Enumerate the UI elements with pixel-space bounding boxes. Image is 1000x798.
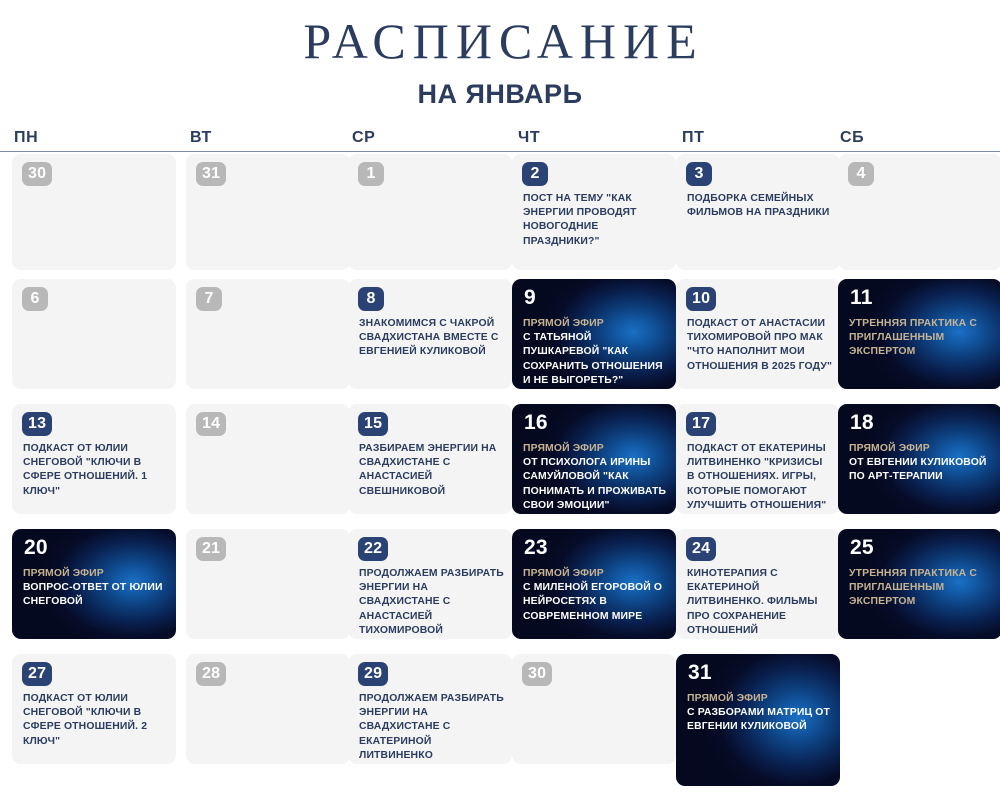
event-label-highlight: УТРЕННЯЯ ПРАКТИКА С ПРИГЛАШЕННЫМ ЭКСПЕРТ…	[849, 318, 977, 357]
day-event-text: ПОДКАСТ ОТ ЕКАТЕРИНЫ ЛИТВИНЕНКО "КРИЗИСЫ…	[687, 442, 833, 513]
day-cell-31[interactable]: 31	[186, 154, 350, 270]
event-description: С МИЛЕНОЙ ЕГОРОВОЙ О НЕЙРОСЕТЯХ В СОВРЕМ…	[523, 582, 662, 621]
date-badge-23: 23	[524, 535, 550, 559]
calendar-week-row: 303112ПОСТ НА ТЕМУ "КАК ЭНЕРГИИ ПРОВОДЯТ…	[0, 154, 1000, 270]
day-event-text: УТРЕННЯЯ ПРАКТИКА С ПРИГЛАШЕННЫМ ЭКСПЕРТ…	[849, 317, 995, 360]
date-badge-4: 4	[848, 162, 874, 186]
day-event-text: УТРЕННЯЯ ПРАКТИКА С ПРИГЛАШЕННЫМ ЭКСПЕРТ…	[849, 567, 995, 610]
event-description: ОТ ПСИХОЛОГА ИРИНЫ САМУЙЛОВОЙ "КАК ПОНИМ…	[523, 457, 666, 511]
event-description: ПОДКАСТ ОТ ЕКАТЕРИНЫ ЛИТВИНЕНКО "КРИЗИСЫ…	[687, 443, 826, 511]
calendar-week-row: 20ПРЯМОЙ ЭФИРВОПРОС-ОТВЕТ ОТ ЮЛИИ СНЕГОВ…	[0, 529, 1000, 639]
day-cell-7[interactable]: 7	[186, 279, 350, 389]
date-badge-21: 21	[196, 537, 226, 561]
day-cell-11[interactable]: 11УТРЕННЯЯ ПРАКТИКА С ПРИГЛАШЕННЫМ ЭКСПЕ…	[838, 279, 1000, 389]
day-cell-1[interactable]: 1	[348, 154, 512, 270]
date-badge-31: 31	[196, 162, 226, 186]
event-label-highlight: ПРЯМОЙ ЭФИР	[523, 443, 604, 454]
day-event-text: ПОДКАСТ ОТ ЮЛИИ СНЕГОВОЙ "КЛЮЧИ В СФЕРЕ …	[23, 442, 169, 499]
day-event-text: ПРЯМОЙ ЭФИРС ТАТЬЯНОЙ ПУШКАРЕВОЙ "КАК СО…	[523, 317, 669, 388]
date-badge-9: 9	[524, 285, 550, 309]
date-badge-15: 15	[358, 412, 388, 436]
day-cell-4[interactable]: 4	[838, 154, 1000, 270]
calendar-week-row: 13ПОДКАСТ ОТ ЮЛИИ СНЕГОВОЙ "КЛЮЧИ В СФЕР…	[0, 404, 1000, 514]
date-badge-18: 18	[850, 410, 876, 434]
day-cell-3[interactable]: 3ПОДБОРКА СЕМЕЙНЫХ ФИЛЬМОВ НА ПРАЗДНИКИ	[676, 154, 840, 270]
date-badge-29: 29	[358, 662, 388, 686]
event-description: ПОДКАСТ ОТ ЮЛИИ СНЕГОВОЙ "КЛЮЧИ В СФЕРЕ …	[23, 693, 147, 747]
event-label-highlight: ПРЯМОЙ ЭФИР	[23, 568, 104, 579]
day-cell-24[interactable]: 24КИНОТЕРАПИЯ С ЕКАТЕРИНОЙ ЛИТВИНЕНКО. Ф…	[676, 529, 840, 639]
day-cell-14[interactable]: 14	[186, 404, 350, 514]
event-description: ПОСТ НА ТЕМУ "КАК ЭНЕРГИИ ПРОВОДЯТ НОВОГ…	[523, 193, 637, 247]
day-cell-27[interactable]: 27ПОДКАСТ ОТ ЮЛИИ СНЕГОВОЙ "КЛЮЧИ В СФЕР…	[12, 654, 176, 764]
day-event-text: ПРЯМОЙ ЭФИРОТ ЕВГЕНИИ КУЛИКОВОЙ ПО АРТ-Т…	[849, 442, 995, 485]
day-event-text: ПОДКАСТ ОТ ЮЛИИ СНЕГОВОЙ "КЛЮЧИ В СФЕРЕ …	[23, 692, 169, 749]
event-label-highlight: ПРЯМОЙ ЭФИР	[523, 318, 604, 329]
day-event-text: ПРЯМОЙ ЭФИРВОПРОС-ОТВЕТ ОТ ЮЛИИ СНЕГОВОЙ	[23, 567, 169, 610]
date-badge-7: 7	[196, 287, 222, 311]
weekday-label-ср: СР	[352, 128, 375, 148]
weekday-label-пн: ПН	[14, 128, 38, 148]
calendar-week-row: 27ПОДКАСТ ОТ ЮЛИИ СНЕГОВОЙ "КЛЮЧИ В СФЕР…	[0, 654, 1000, 764]
date-badge-3: 3	[686, 162, 712, 186]
date-badge-22: 22	[358, 537, 388, 561]
day-event-text: ПОДБОРКА СЕМЕЙНЫХ ФИЛЬМОВ НА ПРАЗДНИКИ	[687, 192, 833, 220]
day-cell-28[interactable]: 28	[186, 654, 350, 764]
date-badge-31: 31	[688, 660, 714, 684]
date-badge-13: 13	[22, 412, 52, 436]
day-cell-6[interactable]: 6	[12, 279, 176, 389]
day-cell-17[interactable]: 17ПОДКАСТ ОТ ЕКАТЕРИНЫ ЛИТВИНЕНКО "КРИЗИ…	[676, 404, 840, 514]
date-badge-16: 16	[524, 410, 550, 434]
event-description: ПОДКАСТ ОТ АНАСТАСИИ ТИХОМИРОВОЙ ПРО МАК…	[687, 318, 832, 372]
date-badge-8: 8	[358, 287, 384, 311]
day-cell-23[interactable]: 23ПРЯМОЙ ЭФИРС МИЛЕНОЙ ЕГОРОВОЙ О НЕЙРОС…	[512, 529, 676, 639]
page-title: РАСПИСАНИЕ	[0, 14, 1000, 68]
day-event-text: ПРЯМОЙ ЭФИРС МИЛЕНОЙ ЕГОРОВОЙ О НЕЙРОСЕТ…	[523, 567, 669, 624]
date-badge-1: 1	[358, 162, 384, 186]
date-badge-24: 24	[686, 537, 716, 561]
page-header: РАСПИСАНИЕ НА ЯНВАРЬ	[0, 0, 1000, 109]
event-description: ПРОДОЛЖАЕМ РАЗБИРАТЬ ЭНЕРГИИ НА СВАДХИСТ…	[359, 568, 504, 636]
day-event-text: ПРЯМОЙ ЭФИРС РАЗБОРАМИ МАТРИЦ ОТ ЕВГЕНИИ…	[687, 692, 833, 735]
date-badge-17: 17	[686, 412, 716, 436]
event-description: ПОДБОРКА СЕМЕЙНЫХ ФИЛЬМОВ НА ПРАЗДНИКИ	[687, 193, 830, 218]
event-label-highlight: ПРЯМОЙ ЭФИР	[687, 693, 768, 704]
day-event-text: ПОСТ НА ТЕМУ "КАК ЭНЕРГИИ ПРОВОДЯТ НОВОГ…	[523, 192, 669, 249]
day-cell-8[interactable]: 8ЗНАКОМИМСЯ С ЧАКРОЙ СВАДХИСТАНА ВМЕСТЕ …	[348, 279, 512, 389]
day-cell-10[interactable]: 10ПОДКАСТ ОТ АНАСТАСИИ ТИХОМИРОВОЙ ПРО М…	[676, 279, 840, 389]
event-label-highlight: ПРЯМОЙ ЭФИР	[523, 568, 604, 579]
page-subtitle: НА ЯНВАРЬ	[0, 79, 1000, 109]
day-cell-21[interactable]: 21	[186, 529, 350, 639]
day-cell-31[interactable]: 31ПРЯМОЙ ЭФИРС РАЗБОРАМИ МАТРИЦ ОТ ЕВГЕН…	[676, 654, 840, 786]
weekday-label-сб: СБ	[840, 128, 864, 148]
day-cell-16[interactable]: 16ПРЯМОЙ ЭФИРОТ ПСИХОЛОГА ИРИНЫ САМУЙЛОВ…	[512, 404, 676, 514]
weekday-header-row: ПНВТСРЧТПТСБ	[0, 128, 1000, 152]
date-badge-27: 27	[22, 662, 52, 686]
weekday-label-чт: ЧТ	[518, 128, 540, 148]
event-label-highlight: ПРЯМОЙ ЭФИР	[849, 443, 930, 454]
date-badge-14: 14	[196, 412, 226, 436]
day-cell-25[interactable]: 25УТРЕННЯЯ ПРАКТИКА С ПРИГЛАШЕННЫМ ЭКСПЕ…	[838, 529, 1000, 639]
event-description: ВОПРОС-ОТВЕТ ОТ ЮЛИИ СНЕГОВОЙ	[23, 582, 163, 607]
day-cell-22[interactable]: 22ПРОДОЛЖАЕМ РАЗБИРАТЬ ЭНЕРГИИ НА СВАДХИ…	[348, 529, 512, 639]
event-description: С РАЗБОРАМИ МАТРИЦ ОТ ЕВГЕНИИ КУЛИКОВОЙ	[687, 707, 830, 732]
day-cell-30[interactable]: 30	[512, 654, 676, 764]
day-cell-20[interactable]: 20ПРЯМОЙ ЭФИРВОПРОС-ОТВЕТ ОТ ЮЛИИ СНЕГОВ…	[12, 529, 176, 639]
day-cell-15[interactable]: 15РАЗБИРАЕМ ЭНЕРГИИ НА СВАДХИСТАНЕ С АНА…	[348, 404, 512, 514]
day-event-text: ПОДКАСТ ОТ АНАСТАСИИ ТИХОМИРОВОЙ ПРО МАК…	[687, 317, 833, 374]
date-badge-20: 20	[24, 535, 50, 559]
event-label-highlight: УТРЕННЯЯ ПРАКТИКА С ПРИГЛАШЕННЫМ ЭКСПЕРТ…	[849, 568, 977, 607]
date-badge-30: 30	[522, 662, 552, 686]
weekday-label-пт: ПТ	[682, 128, 704, 148]
day-cell-2[interactable]: 2ПОСТ НА ТЕМУ "КАК ЭНЕРГИИ ПРОВОДЯТ НОВО…	[512, 154, 676, 270]
date-badge-30: 30	[22, 162, 52, 186]
date-badge-11: 11	[850, 285, 876, 309]
day-cell-29[interactable]: 29ПРОДОЛЖАЕМ РАЗБИРАТЬ ЭНЕРГИИ НА СВАДХИ…	[348, 654, 512, 764]
event-description: С ТАТЬЯНОЙ ПУШКАРЕВОЙ "КАК СОХРАНИТЬ ОТН…	[523, 332, 663, 386]
day-event-text: ПРОДОЛЖАЕМ РАЗБИРАТЬ ЭНЕРГИИ НА СВАДХИСТ…	[359, 567, 505, 638]
header-divider	[0, 151, 1000, 152]
day-event-text: ПРЯМОЙ ЭФИРОТ ПСИХОЛОГА ИРИНЫ САМУЙЛОВОЙ…	[523, 442, 669, 513]
event-description: ОТ ЕВГЕНИИ КУЛИКОВОЙ ПО АРТ-ТЕРАПИИ	[849, 457, 987, 482]
date-badge-6: 6	[22, 287, 48, 311]
day-event-text: КИНОТЕРАПИЯ С ЕКАТЕРИНОЙ ЛИТВИНЕНКО. ФИЛ…	[687, 567, 833, 638]
date-badge-2: 2	[522, 162, 548, 186]
event-description: КИНОТЕРАПИЯ С ЕКАТЕРИНОЙ ЛИТВИНЕНКО. ФИЛ…	[687, 568, 818, 636]
date-badge-25: 25	[850, 535, 876, 559]
day-event-text: ЗНАКОМИМСЯ С ЧАКРОЙ СВАДХИСТАНА ВМЕСТЕ С…	[359, 317, 505, 360]
day-cell-9[interactable]: 9ПРЯМОЙ ЭФИРС ТАТЬЯНОЙ ПУШКАРЕВОЙ "КАК С…	[512, 279, 676, 389]
event-description: ЗНАКОМИМСЯ С ЧАКРОЙ СВАДХИСТАНА ВМЕСТЕ С…	[359, 318, 499, 357]
day-cell-13[interactable]: 13ПОДКАСТ ОТ ЮЛИИ СНЕГОВОЙ "КЛЮЧИ В СФЕР…	[12, 404, 176, 514]
date-badge-28: 28	[196, 662, 226, 686]
event-description: ПОДКАСТ ОТ ЮЛИИ СНЕГОВОЙ "КЛЮЧИ В СФЕРЕ …	[23, 443, 147, 497]
date-badge-10: 10	[686, 287, 716, 311]
day-event-text: РАЗБИРАЕМ ЭНЕРГИИ НА СВАДХИСТАНЕ С АНАСТ…	[359, 442, 505, 499]
calendar-week-row: 678ЗНАКОМИМСЯ С ЧАКРОЙ СВАДХИСТАНА ВМЕСТ…	[0, 279, 1000, 389]
weekday-label-вт: ВТ	[190, 128, 212, 148]
day-event-text: ПРОДОЛЖАЕМ РАЗБИРАТЬ ЭНЕРГИИ НА СВАДХИСТ…	[359, 692, 505, 763]
day-cell-30[interactable]: 30	[12, 154, 176, 270]
day-cell-18[interactable]: 18ПРЯМОЙ ЭФИРОТ ЕВГЕНИИ КУЛИКОВОЙ ПО АРТ…	[838, 404, 1000, 514]
event-description: РАЗБИРАЕМ ЭНЕРГИИ НА СВАДХИСТАНЕ С АНАСТ…	[359, 443, 496, 497]
event-description: ПРОДОЛЖАЕМ РАЗБИРАТЬ ЭНЕРГИИ НА СВАДХИСТ…	[359, 693, 504, 761]
